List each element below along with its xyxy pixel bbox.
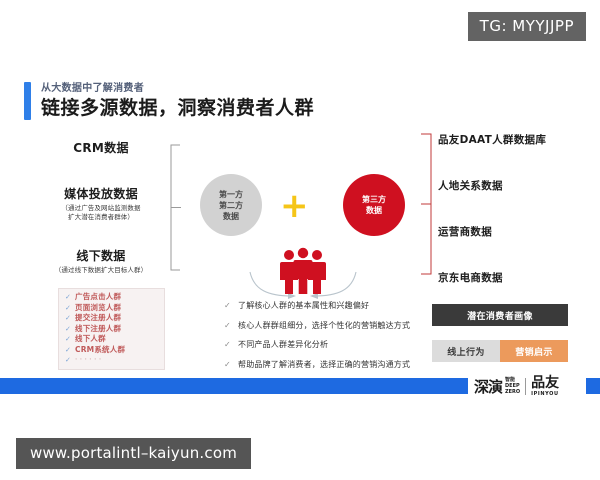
right-source-item: 人地关系数据 [438, 179, 588, 225]
benefit-row: ✓ 不同产品人群差异化分析 [224, 339, 424, 351]
brand-logo: 深演 智能 DEEP ZERO 品友 IPINYOU [474, 374, 582, 398]
benefit-text: 帮助品牌了解消费者，选择正确的营销沟通方式 [238, 359, 410, 371]
benefit-row: ✓ 帮助品牌了解消费者，选择正确的营销沟通方式 [224, 359, 424, 371]
check-icon: ✓ [224, 339, 238, 351]
left-source-item: 媒体投放数据 （通过广告及网站监测数据 扩大潜在消费者群体） [36, 186, 166, 222]
left-source-label: 线下数据 [36, 248, 166, 264]
first-party-line1: 第一方 [219, 189, 243, 200]
footer-bar [0, 378, 468, 394]
check-icon: ✓ [224, 320, 238, 332]
check-icon: ✓ [65, 313, 75, 323]
consumer-profile-button[interactable]: 潜在消费者画像 [432, 304, 568, 326]
left-source-item: 线下数据 （通过线下数据扩大目标人群） [36, 248, 166, 275]
logo-shenyan-text: 深演 [474, 379, 502, 395]
left-source-note: （通过线下数据扩大目标人群） [36, 266, 166, 275]
title-accent-bar [24, 82, 31, 120]
left-source-item: CRM数据 [36, 140, 166, 156]
check-icon: ✓ [65, 345, 75, 355]
third-party-line1: 第三方 [362, 194, 386, 205]
crowd-item-label: 线下注册人群 [75, 324, 121, 335]
check-icon: ✓ [65, 324, 75, 334]
check-icon: ✓ [224, 300, 238, 312]
title-heading: 链接多源数据，洞察消费者人群 [41, 96, 314, 120]
third-party-circle: 第三方 数据 [343, 174, 405, 236]
benefit-text: 核心人群群组细分，选择个性化的营销触达方式 [238, 320, 410, 332]
benefit-row: ✓ 核心人群群组细分，选择个性化的营销触达方式 [224, 320, 424, 332]
left-source-label: CRM数据 [36, 140, 166, 156]
first-party-circle: 第一方 第二方 数据 [200, 174, 262, 236]
crowd-item-label: 提交注册人群 [75, 313, 121, 324]
button-group: 线上行为 营销启示 [432, 340, 568, 362]
crowd-item-more: ✓ · · · · · · [65, 355, 164, 366]
left-source-list: CRM数据 媒体投放数据 （通过广告及网站监测数据 扩大潜在消费者群体） 线下数… [36, 138, 166, 289]
audience-people-icon [248, 238, 358, 300]
right-source-item: 品友DAAT人群数据库 [438, 133, 588, 179]
crowd-item: ✓ 线下注册人群 [65, 324, 164, 335]
crowd-item: ✓ 广告点击人群 [65, 292, 164, 303]
crowd-segment-box: ✓ 广告点击人群 ✓ 页面浏览人群 ✓ 提交注册人群 ✓ 线下注册人群 ✓ 线下… [58, 288, 165, 370]
logo-deepzero-text: DEEP ZERO [505, 383, 520, 395]
footer-bar-right [586, 378, 600, 394]
online-behavior-button[interactable]: 线上行为 [432, 340, 500, 362]
benefit-row: ✓ 了解核心人群的基本属性和兴趣偏好 [224, 300, 424, 312]
first-party-line3: 数据 [219, 211, 243, 222]
logo-pinyou-text: 品友 [531, 376, 559, 391]
left-bracket [168, 144, 182, 271]
first-party-line2: 第二方 [219, 200, 243, 211]
benefit-text: 了解核心人群的基本属性和兴趣偏好 [238, 300, 369, 312]
third-party-line2: 数据 [362, 205, 386, 216]
plus-operator: + [280, 192, 308, 220]
check-icon: ✓ [224, 359, 238, 371]
check-icon: ✓ [65, 355, 75, 365]
crowd-item: ✓ CRM系统人群 [65, 345, 164, 356]
left-source-note: （通过广告及网站监测数据 扩大潜在消费者群体） [36, 204, 166, 222]
crowd-item: ✓ 页面浏览人群 [65, 303, 164, 314]
logo-ipinyou-text: IPINYOU [531, 391, 559, 397]
crowd-item-label: 广告点击人群 [75, 292, 121, 303]
page-title: 从大数据中了解消费者 链接多源数据，洞察消费者人群 [24, 82, 314, 120]
slide-canvas: TG: MYYJJPP 从大数据中了解消费者 链接多源数据，洞察消费者人群 CR… [0, 0, 600, 480]
right-source-list: 品友DAAT人群数据库 人地关系数据 运营商数据 京东电商数据 [438, 133, 588, 317]
right-bracket [420, 133, 434, 275]
crowd-item: ✓ 线下人群 [65, 334, 164, 345]
url-watermark: www.portalintl–kaiyun.com [16, 438, 251, 469]
marketing-insight-button[interactable]: 营销启示 [500, 340, 568, 362]
crowd-item-label: · · · · · · [75, 355, 101, 366]
benefits-checklist: ✓ 了解核心人群的基本属性和兴趣偏好 ✓ 核心人群群组细分，选择个性化的营销触达… [224, 300, 424, 378]
check-icon: ✓ [65, 303, 75, 313]
telegram-watermark: TG: MYYJJPP [468, 12, 586, 41]
left-source-label: 媒体投放数据 [36, 186, 166, 202]
check-icon: ✓ [65, 334, 75, 344]
crowd-item: ✓ 提交注册人群 [65, 313, 164, 324]
title-subtitle: 从大数据中了解消费者 [41, 82, 314, 95]
crowd-item-label: CRM系统人群 [75, 345, 125, 356]
crowd-item-label: 页面浏览人群 [75, 303, 121, 314]
crowd-item-label: 线下人群 [75, 334, 106, 345]
check-icon: ✓ [65, 292, 75, 302]
benefit-text: 不同产品人群差异化分析 [238, 339, 328, 351]
logo-divider [525, 378, 526, 395]
right-source-item: 运营商数据 [438, 225, 588, 271]
